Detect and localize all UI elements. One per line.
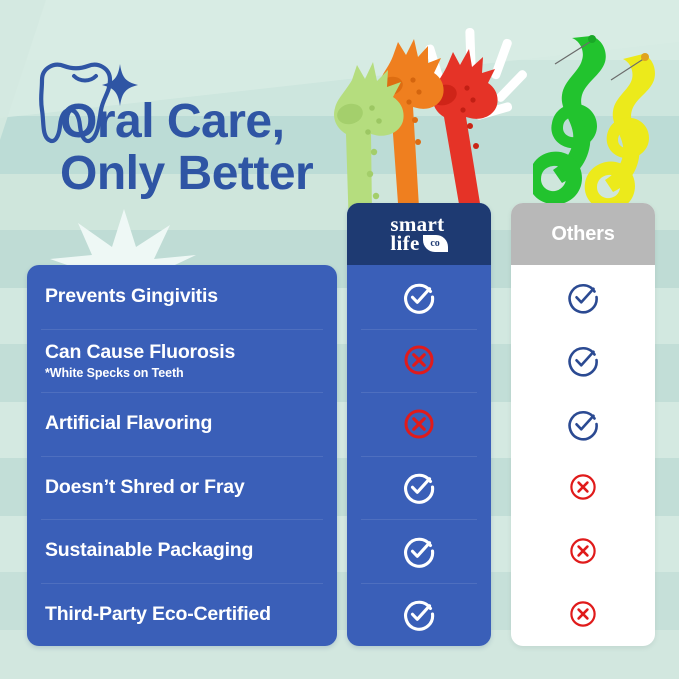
column-smartlife: smart life co (347, 203, 491, 646)
feature-sublabel: *White Specks on Teeth (45, 366, 337, 380)
cross-circle-icon (402, 343, 436, 377)
feature-label: Can Cause Fluorosis (45, 341, 337, 364)
mark-row (511, 329, 655, 393)
check-circle-icon (566, 407, 600, 441)
check-circle-icon (566, 343, 600, 377)
mark-row (347, 392, 491, 456)
leaf-icon: co (423, 235, 448, 252)
page-title: Oral Care, Only Better (60, 96, 313, 200)
cross-circle-icon (566, 470, 600, 504)
feature-row: Doesn’t Shred or Fray (27, 456, 337, 520)
mark-row (511, 519, 655, 583)
headline-line-1: Oral Care, (60, 96, 313, 148)
cross-circle-icon (402, 407, 436, 441)
mark-row (347, 265, 491, 329)
smartlife-logo: smart life co (390, 215, 447, 253)
check-circle-icon (402, 280, 436, 314)
mark-row (511, 456, 655, 520)
mark-row (347, 456, 491, 520)
column-header-others: Others (511, 203, 655, 265)
feature-row: Artificial Flavoring (27, 392, 337, 456)
mark-row (347, 329, 491, 393)
column-header-smartlife: smart life co (347, 203, 491, 265)
cross-circle-icon (566, 534, 600, 568)
feature-label: Doesn’t Shred or Fray (45, 476, 337, 499)
logo-line-2: life (390, 234, 419, 253)
column-body-smartlife (347, 265, 491, 646)
column-others: Others (511, 203, 655, 646)
leaf-label: co (423, 235, 448, 252)
feature-list-panel: Prevents Gingivitis Can Cause Fluorosis … (27, 265, 337, 646)
feature-row: Sustainable Packaging (27, 519, 337, 583)
check-circle-icon (566, 280, 600, 314)
feature-label: Sustainable Packaging (45, 539, 337, 562)
floss-picks-harp (533, 32, 679, 222)
mark-row (347, 519, 491, 583)
mark-row (511, 583, 655, 647)
feature-row: Third-Party Eco-Certified (27, 583, 337, 647)
feature-label: Artificial Flavoring (45, 412, 337, 435)
column-body-others (511, 265, 655, 646)
mark-row (511, 265, 655, 329)
headline-line-2: Only Better (60, 148, 313, 200)
check-circle-icon (402, 597, 436, 631)
feature-row: Can Cause Fluorosis *White Specks on Tee… (27, 329, 337, 393)
mark-row (511, 392, 655, 456)
check-circle-icon (402, 534, 436, 568)
infographic-canvas: Oral Care, Only Better Prevents Gingivit… (0, 0, 679, 679)
others-label: Others (551, 223, 614, 246)
check-circle-icon (402, 470, 436, 504)
mark-row (347, 583, 491, 647)
feature-row: Prevents Gingivitis (27, 265, 337, 329)
feature-label: Third-Party Eco-Certified (45, 603, 337, 626)
cross-circle-icon (566, 597, 600, 631)
feature-label: Prevents Gingivitis (45, 285, 337, 308)
